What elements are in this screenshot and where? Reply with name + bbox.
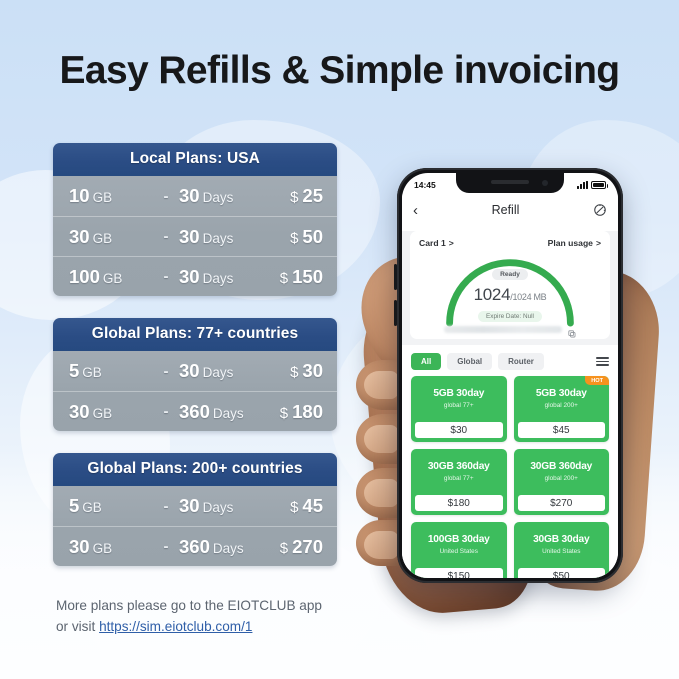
hamburger-menu-icon[interactable] — [596, 357, 609, 366]
plan-data-unit: GB — [82, 500, 102, 515]
plan-data-unit: GB — [93, 541, 113, 556]
plan-card[interactable]: 30GB 360dayglobal 77+$180 — [411, 449, 507, 515]
plan-price-value: 180 — [292, 401, 323, 422]
separator-dash: - — [153, 363, 179, 380]
plan-card-title: 100GB 30day — [411, 522, 507, 545]
table-row: 5GB-30Days$30 — [53, 351, 337, 391]
currency-symbol: $ — [290, 189, 298, 206]
plan-data-unit: GB — [82, 365, 102, 380]
plan-data-value: 100 — [69, 266, 100, 287]
separator-dash: - — [153, 498, 179, 515]
chevron-right-icon: > — [449, 238, 454, 248]
plan-price-value: 150 — [292, 266, 323, 287]
plan-data-amount: 5GB — [69, 360, 153, 382]
plan-price-value: 45 — [302, 495, 323, 516]
plan-duration-unit: Days — [203, 231, 234, 246]
plan-data-unit: GB — [103, 271, 123, 286]
plan-usage-label: Plan usage — [548, 238, 593, 248]
plan-card[interactable]: 5GB 30dayglobal 77+$30 — [411, 376, 507, 442]
plan-card-price: $150 — [415, 568, 503, 578]
currency-symbol: $ — [290, 364, 298, 381]
plan-duration-value: 360 — [179, 401, 210, 422]
plan-duration-value: 30 — [179, 185, 200, 206]
plan-duration-unit: Days — [203, 271, 234, 286]
plan-data-value: 30 — [69, 401, 90, 422]
plan-card[interactable]: 30GB 360dayglobal 200+$270 — [514, 449, 610, 515]
plan-duration: 30Days — [179, 185, 261, 207]
plan-duration-unit: Days — [203, 190, 234, 205]
plan-tables: Local Plans: USA10GB-30Days$2530GB-30Day… — [53, 143, 337, 588]
separator-dash: - — [153, 403, 179, 420]
globe-icon[interactable] — [593, 203, 607, 217]
plan-price: $25 — [261, 185, 323, 207]
separator-dash: - — [153, 268, 179, 285]
chevron-left-icon[interactable]: ‹ — [413, 203, 418, 218]
currency-symbol: $ — [280, 270, 288, 287]
expire-date-badge: Expire Date: Null — [478, 311, 542, 322]
plan-card-price: $50 — [518, 568, 606, 578]
filter-chip-all[interactable]: All — [411, 353, 441, 370]
plan-usage-link[interactable]: Plan usage > — [548, 238, 601, 248]
plan-duration-unit: Days — [213, 541, 244, 556]
plan-table-title: Local Plans: USA — [53, 143, 337, 176]
plan-duration-value: 30 — [179, 360, 200, 381]
poster-root: Easy Refills & Simple invoicing Local Pl… — [0, 0, 679, 679]
separator-dash: - — [153, 188, 179, 205]
iccid-blurred-text — [444, 326, 562, 333]
plan-data-value: 30 — [69, 536, 90, 557]
plan-card-price: $270 — [518, 495, 606, 511]
separator-dash: - — [153, 538, 179, 555]
plan-duration: 360Days — [179, 401, 261, 423]
signal-bars-icon — [577, 181, 588, 189]
plan-card-subtitle: United States — [411, 548, 507, 555]
plan-duration-unit: Days — [203, 500, 234, 515]
plan-price-value: 25 — [302, 185, 323, 206]
plan-price: $150 — [261, 266, 323, 288]
volume-down-button[interactable] — [394, 300, 397, 326]
plan-card-subtitle: global 200+ — [514, 402, 610, 409]
plan-card[interactable]: 100GB 30dayUnited States$150 — [411, 522, 507, 578]
plan-card-title: 30GB 30day — [514, 522, 610, 545]
battery-icon — [591, 181, 606, 189]
plan-card-subtitle: United States — [514, 548, 610, 555]
plan-price: $50 — [261, 226, 323, 248]
plan-card-price: $30 — [415, 422, 503, 438]
volume-up-button[interactable] — [394, 264, 397, 290]
plan-duration: 30Days — [179, 266, 261, 288]
plan-price-value: 270 — [292, 536, 323, 557]
plan-data-value: 5 — [69, 360, 79, 381]
plan-data-unit: GB — [93, 231, 113, 246]
plan-price: $270 — [261, 536, 323, 558]
plan-card-title: 30GB 360day — [514, 449, 610, 472]
currency-symbol: $ — [290, 499, 298, 516]
plan-table: Global Plans: 77+ countries5GB-30Days$30… — [53, 318, 337, 431]
plan-card[interactable]: HOT5GB 30dayglobal 200+$45 — [514, 376, 610, 442]
status-badge: Ready — [492, 269, 528, 280]
plan-card-price: $180 — [415, 495, 503, 511]
plan-data-amount: 30GB — [69, 226, 153, 248]
plan-data-amount: 30GB — [69, 536, 153, 558]
chevron-right-icon: > — [596, 238, 601, 248]
plan-table: Local Plans: USA10GB-30Days$2530GB-30Day… — [53, 143, 337, 296]
plan-duration-value: 360 — [179, 536, 210, 557]
table-row: 30GB-360Days$180 — [53, 391, 337, 431]
currency-symbol: $ — [280, 540, 288, 557]
plan-data-amount: 10GB — [69, 185, 153, 207]
page-title: Easy Refills & Simple invoicing — [0, 49, 679, 93]
plan-duration-unit: Days — [203, 365, 234, 380]
plan-card-title: 30GB 360day — [411, 449, 507, 472]
app-header: ‹ Refill — [402, 194, 618, 226]
plan-card-grid: 5GB 30dayglobal 77+$30HOT5GB 30dayglobal… — [402, 376, 618, 578]
footnote-line2-prefix: or visit — [56, 619, 99, 634]
plan-card-title: 5GB 30day — [411, 376, 507, 399]
plan-data-amount: 30GB — [69, 401, 153, 423]
filter-chip-global[interactable]: Global — [447, 353, 492, 370]
app-title: Refill — [492, 203, 520, 217]
plan-table-body: 5GB-30Days$4530GB-360Days$270 — [53, 486, 337, 566]
filter-chip-router[interactable]: Router — [498, 353, 544, 370]
plan-data-value: 5 — [69, 495, 79, 516]
data-usage-gauge: Ready 1024/1024 MB Expire Date: Null — [419, 249, 601, 321]
plan-data-unit: GB — [93, 190, 113, 205]
card-label: Card 1 — [419, 238, 446, 248]
usage-card: Card 1 > Plan usage > Ready — [410, 231, 610, 339]
separator-dash: - — [153, 228, 179, 245]
table-row: 5GB-30Days$45 — [53, 486, 337, 526]
status-bar: 14:45 — [402, 173, 618, 194]
plan-price: $180 — [261, 401, 323, 423]
plan-table-title: Global Plans: 77+ countries — [53, 318, 337, 351]
app-body: Card 1 > Plan usage > Ready — [402, 231, 618, 578]
data-used-value: 1024 — [474, 285, 511, 304]
phone-device: 14:45 ‹ Refill — [397, 168, 623, 583]
plan-data-amount: 5GB — [69, 495, 153, 517]
plan-card-subtitle: global 77+ — [411, 402, 507, 409]
currency-symbol: $ — [290, 230, 298, 247]
plan-data-value: 30 — [69, 226, 90, 247]
plan-duration: 30Days — [179, 360, 261, 382]
plan-table: Global Plans: 200+ countries5GB-30Days$4… — [53, 453, 337, 566]
plan-duration-value: 30 — [179, 495, 200, 516]
filter-chips: AllGlobalRouter — [402, 345, 618, 376]
table-row: 100GB-30Days$150 — [53, 256, 337, 296]
plan-price-value: 50 — [302, 226, 323, 247]
plan-duration: 30Days — [179, 226, 261, 248]
plan-duration-value: 30 — [179, 226, 200, 247]
eiotclub-link[interactable]: https://sim.eiotclub.com/1 — [99, 619, 252, 634]
table-row: 10GB-30Days$25 — [53, 176, 337, 216]
status-time: 14:45 — [414, 180, 436, 190]
plan-table-body: 5GB-30Days$3030GB-360Days$180 — [53, 351, 337, 431]
card-selector[interactable]: Card 1 > — [419, 238, 454, 248]
plan-table-title: Global Plans: 200+ countries — [53, 453, 337, 486]
footnote: More plans please go to the EIOTCLUB app… — [56, 595, 356, 637]
plan-duration-unit: Days — [213, 406, 244, 421]
plan-card-subtitle: global 200+ — [514, 475, 610, 482]
plan-duration-value: 30 — [179, 266, 200, 287]
plan-data-unit: GB — [93, 406, 113, 421]
plan-card-subtitle: global 77+ — [411, 475, 507, 482]
currency-symbol: $ — [280, 405, 288, 422]
table-row: 30GB-360Days$270 — [53, 526, 337, 566]
footnote-line1: More plans please go to the EIOTCLUB app — [56, 598, 322, 613]
plan-table-body: 10GB-30Days$2530GB-30Days$50100GB-30Days… — [53, 176, 337, 296]
plan-duration: 360Days — [179, 536, 261, 558]
phone-screen: 14:45 ‹ Refill — [402, 173, 618, 578]
hot-badge: HOT — [585, 376, 609, 385]
data-total-value: /1024 MB — [510, 292, 546, 302]
plan-card[interactable]: 30GB 30dayUnited States$50 — [514, 522, 610, 578]
table-row: 30GB-30Days$50 — [53, 216, 337, 256]
plan-duration: 30Days — [179, 495, 261, 517]
plan-price: $45 — [261, 495, 323, 517]
plan-price: $30 — [261, 360, 323, 382]
plan-data-amount: 100GB — [69, 266, 153, 288]
plan-data-value: 10 — [69, 185, 90, 206]
plan-price-value: 30 — [302, 360, 323, 381]
plan-card-price: $45 — [518, 422, 606, 438]
